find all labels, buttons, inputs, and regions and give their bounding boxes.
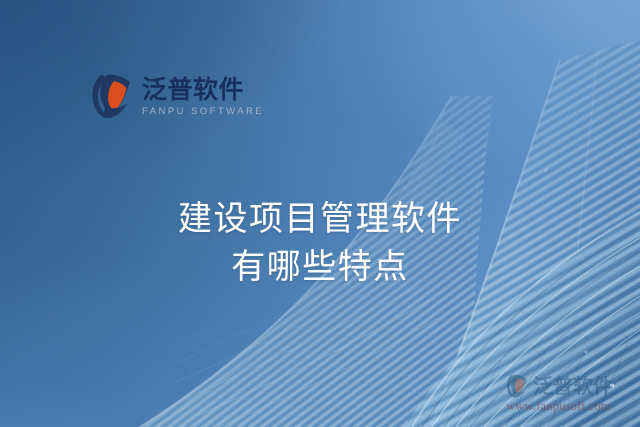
watermark-url: www.fanpusoft.com	[506, 399, 638, 414]
brand-wordmark: 泛普软件 FANPU SOFTWARE	[142, 76, 264, 117]
watermark: 泛普软件 www.fanpusoft.com	[506, 374, 638, 414]
fanpu-logo-mark-icon	[91, 73, 133, 119]
slide-canvas: 泛普软件 FANPU SOFTWARE 建设项目管理软件 有哪些特点 泛普软件 …	[0, 0, 640, 427]
watermark-logo-mark-icon	[506, 374, 528, 398]
headline-line-2: 有哪些特点	[0, 244, 640, 292]
watermark-logo-row: 泛普软件	[506, 374, 638, 398]
brand-logo[interactable]: 泛普软件 FANPU SOFTWARE	[91, 73, 264, 119]
headline: 建设项目管理软件 有哪些特点	[0, 196, 640, 291]
brand-name-cn: 泛普软件	[142, 77, 264, 104]
brand-name-en: FANPU SOFTWARE	[142, 107, 264, 117]
headline-line-1: 建设项目管理软件	[0, 196, 640, 244]
watermark-brand-name: 泛普软件	[533, 376, 613, 396]
